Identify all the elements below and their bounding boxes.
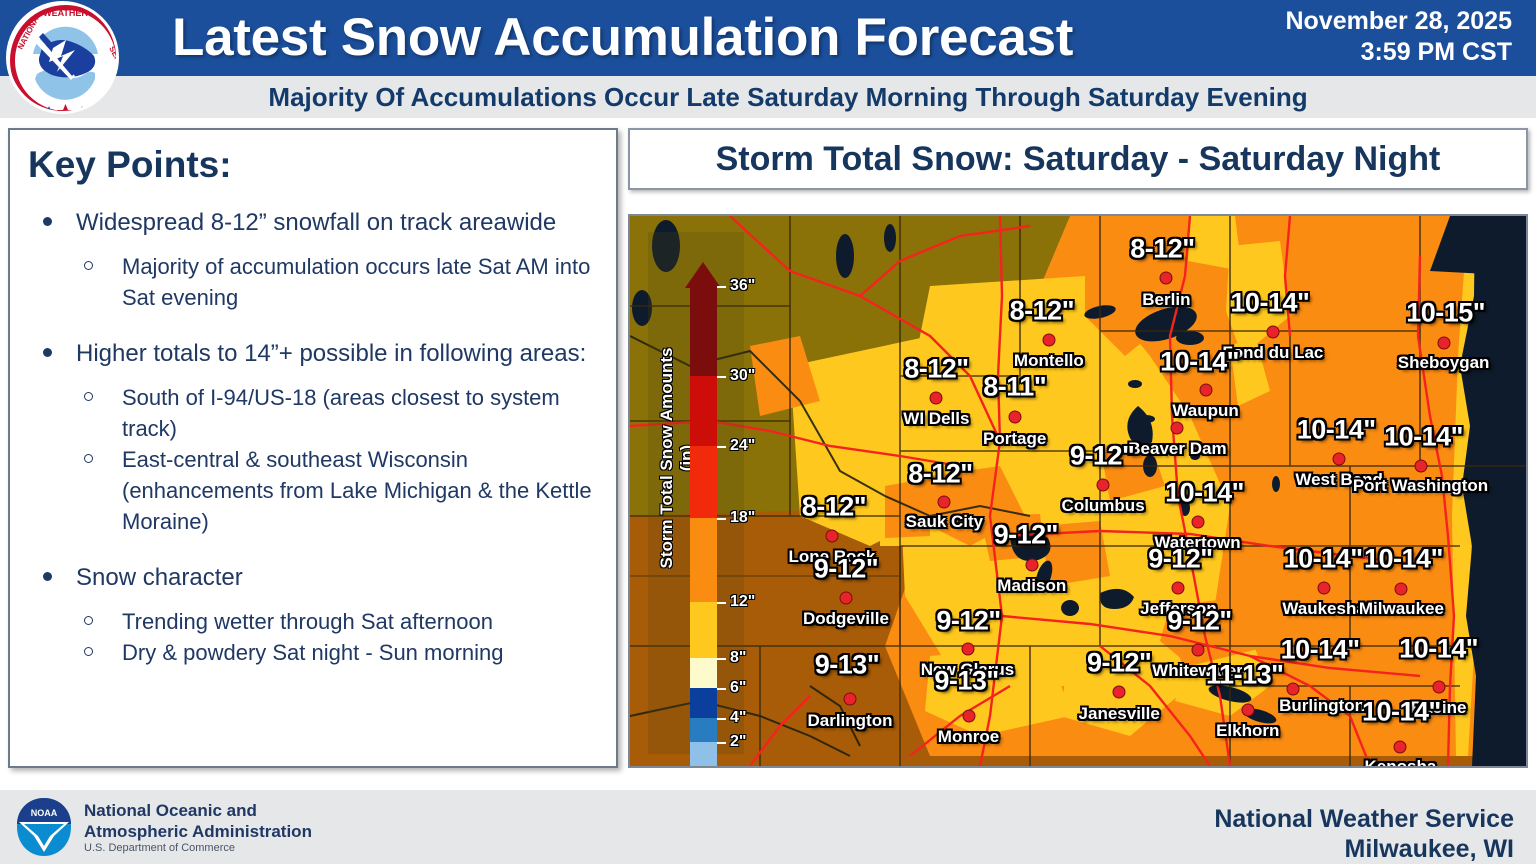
hollow-bullet-icon (84, 616, 93, 625)
hollow-bullet-icon (84, 392, 93, 401)
bullet-icon (43, 572, 52, 581)
noaa-logo-icon: NOAA (14, 796, 74, 858)
city-marker-dot (1097, 478, 1110, 491)
city-marker-dot (1199, 384, 1212, 397)
city-marker-dot (1042, 333, 1055, 346)
colorbar-label: 8" (730, 649, 746, 667)
key-point-text: Dry & powdery Sat night - Sun morning (122, 640, 504, 665)
header-time: 3:59 PM CST (1092, 37, 1512, 68)
city-marker-dot (839, 591, 852, 604)
colorbar-label: 12" (730, 593, 755, 611)
city-marker-dot (1241, 703, 1254, 716)
colorbar-label: 18" (730, 509, 755, 527)
city-marker-dot (1191, 644, 1204, 657)
colorbar-label: 6" (730, 679, 746, 697)
key-point-item: Snow character (10, 561, 620, 594)
city-marker-dot (843, 693, 856, 706)
city-marker-dot (1395, 582, 1408, 595)
key-point-text: Majority of accumulation occurs late Sat… (122, 254, 590, 310)
city-marker-dot (1437, 336, 1450, 349)
city-marker-dot (1191, 516, 1204, 529)
nws-office-name: National Weather Service (1214, 804, 1514, 834)
map-panel: Storm Total Snow: Saturday - Saturday Ni… (628, 128, 1528, 768)
noaa-line-2: Atmospheric Administration (84, 821, 312, 842)
key-point-item: Higher totals to 14”+ possible in follow… (10, 337, 620, 370)
noaa-department: U.S. Department of Commerce (84, 842, 235, 854)
key-point-text: Trending wetter through Sat afternoon (122, 609, 493, 634)
city-marker-dot (825, 530, 838, 543)
hollow-bullet-icon (84, 261, 93, 270)
key-point-subitem: Trending wetter through Sat afternoon (10, 606, 620, 637)
nws-office: National Weather Service Milwaukee, WI (1214, 804, 1514, 864)
snow-forecast-map: Storm Total Snow Amounts (in) (628, 214, 1528, 768)
colorbar-label: 30" (730, 367, 755, 385)
key-point-subitem: East-central & southeast Wisconsin (enha… (10, 444, 620, 537)
hollow-bullet-icon (84, 647, 93, 656)
header-datetime: November 28, 2025 3:59 PM CST (1092, 6, 1512, 68)
noaa-agency-name: National Oceanic and Atmospheric Adminis… (84, 800, 312, 842)
colorbar: Storm Total Snow Amounts (in) (648, 232, 744, 754)
city-marker-dot (1333, 452, 1346, 465)
city-marker-dot (1171, 421, 1184, 434)
hollow-bullet-icon (84, 454, 93, 463)
colorbar-gradient: 36" 30" 24" 18" 12" 8" 6" 4" 2" 0" (690, 286, 717, 736)
noaa-line-1: National Oceanic and (84, 800, 312, 821)
nws-logo-icon: WEATHER NATIONAL SERVICE (6, 1, 119, 114)
city-marker-dot (1008, 411, 1021, 424)
colorbar-label: 24" (730, 437, 755, 455)
city-marker-dot (1025, 558, 1038, 571)
key-points-list: Widespread 8-12” snowfall on track areaw… (10, 206, 620, 668)
key-point-subitem: Dry & powdery Sat night - Sun morning (10, 637, 620, 668)
page-footer: NOAA National Oceanic and Atmospheric Ad… (0, 790, 1536, 864)
key-point-text: South of I-94/US-18 (areas closest to sy… (122, 385, 560, 441)
bullet-icon (43, 348, 52, 357)
key-point-text: Snow character (76, 564, 243, 591)
key-point-item: Widespread 8-12” snowfall on track areaw… (10, 206, 620, 239)
map-title-box: Storm Total Snow: Saturday - Saturday Ni… (628, 128, 1528, 190)
city-marker-dot (961, 643, 974, 656)
colorbar-arrow-icon (685, 262, 721, 288)
key-point-text: East-central & southeast Wisconsin (enha… (122, 447, 592, 534)
city-marker-dot (1266, 325, 1279, 338)
city-marker-dot (1160, 272, 1173, 285)
key-point-subitem: South of I-94/US-18 (areas closest to sy… (10, 382, 620, 444)
page-title: Latest Snow Accumulation Forecast (172, 2, 1172, 74)
key-point-text: Higher totals to 14”+ possible in follow… (76, 340, 586, 367)
city-marker-dot (930, 392, 943, 405)
colorbar-label: 2" (730, 733, 746, 751)
key-point-text: Widespread 8-12” snowfall on track areaw… (76, 209, 556, 236)
city-marker-dot (1394, 740, 1407, 753)
header-date: November 28, 2025 (1092, 6, 1512, 37)
key-points-panel: Key Points: Widespread 8-12” snowfall on… (8, 128, 618, 768)
key-point-subitem: Majority of accumulation occurs late Sat… (10, 251, 620, 313)
city-marker-dot (1172, 581, 1185, 594)
nws-office-location: Milwaukee, WI (1214, 834, 1514, 864)
svg-text:NOAA: NOAA (31, 808, 58, 818)
svg-text:WEATHER: WEATHER (43, 8, 88, 18)
city-marker-dot (1414, 459, 1427, 472)
subheader-text: Majority Of Accumulations Occur Late Sat… (0, 76, 1536, 118)
city-marker-dot (1113, 686, 1126, 699)
city-marker-dot (1318, 581, 1331, 594)
map-graphic (630, 216, 1526, 766)
colorbar-label: 36" (730, 277, 755, 295)
city-marker-dot (1432, 681, 1445, 694)
city-marker-dot (938, 496, 951, 509)
bullet-icon (43, 217, 52, 226)
city-marker-dot (1286, 683, 1299, 696)
map-title: Storm Total Snow: Saturday - Saturday Ni… (716, 140, 1441, 179)
colorbar-label: 4" (730, 709, 746, 727)
key-points-title: Key Points: (28, 144, 232, 186)
city-marker-dot (962, 709, 975, 722)
